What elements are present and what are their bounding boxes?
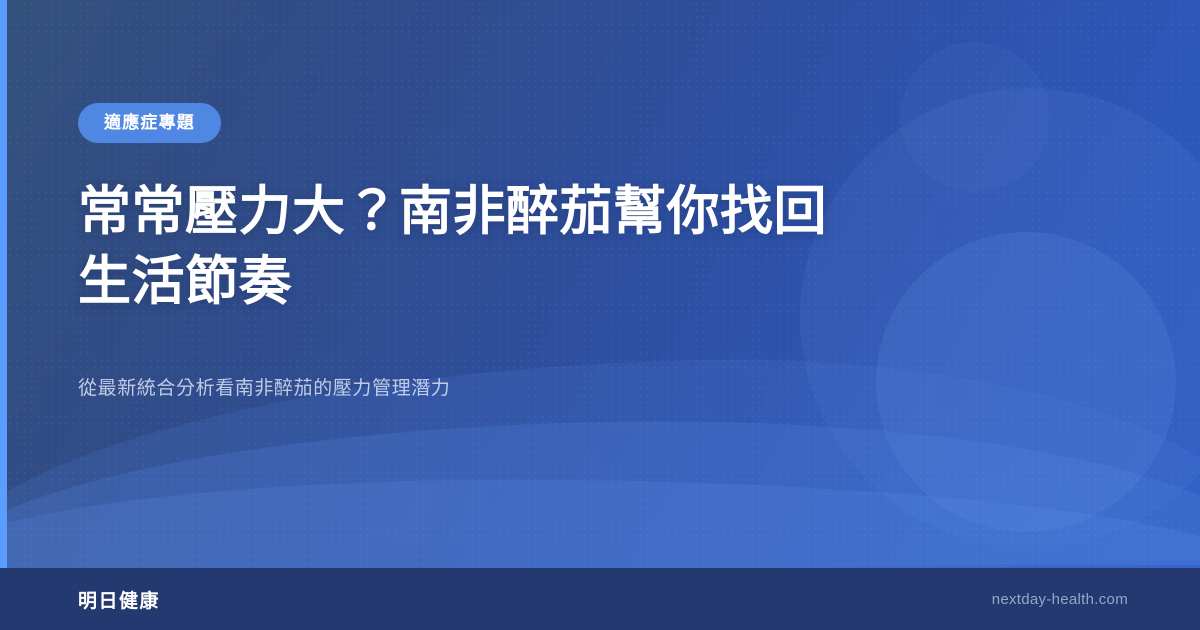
og-card: 適應症專題 常常壓力大？南非醉茄幫你找回 生活節奏 從最新統合分析看南非醉茄的壓…	[0, 0, 1200, 630]
site-brand[interactable]: 明日健康	[78, 586, 160, 613]
hero-content: 適應症專題 常常壓力大？南非醉茄幫你找回 生活節奏 從最新統合分析看南非醉茄的壓…	[0, 0, 960, 404]
footer-bar: 明日健康 nextday-health.com	[0, 568, 1200, 630]
category-badge[interactable]: 適應症專題	[78, 103, 221, 143]
decorative-wave-front	[0, 475, 1200, 576]
page-title: 常常壓力大？南非醉茄幫你找回 生活節奏	[78, 177, 908, 318]
site-url[interactable]: nextday-health.com	[992, 591, 1128, 608]
page-title-line-2: 生活節奏	[78, 252, 292, 311]
page-title-line-1: 常常壓力大？南非醉茄幫你找回	[78, 182, 827, 241]
page-subtitle: 從最新統合分析看南非醉茄的壓力管理潛力	[78, 374, 960, 404]
left-accent-bar	[0, 0, 7, 630]
decorative-wave-middle	[0, 414, 1200, 580]
